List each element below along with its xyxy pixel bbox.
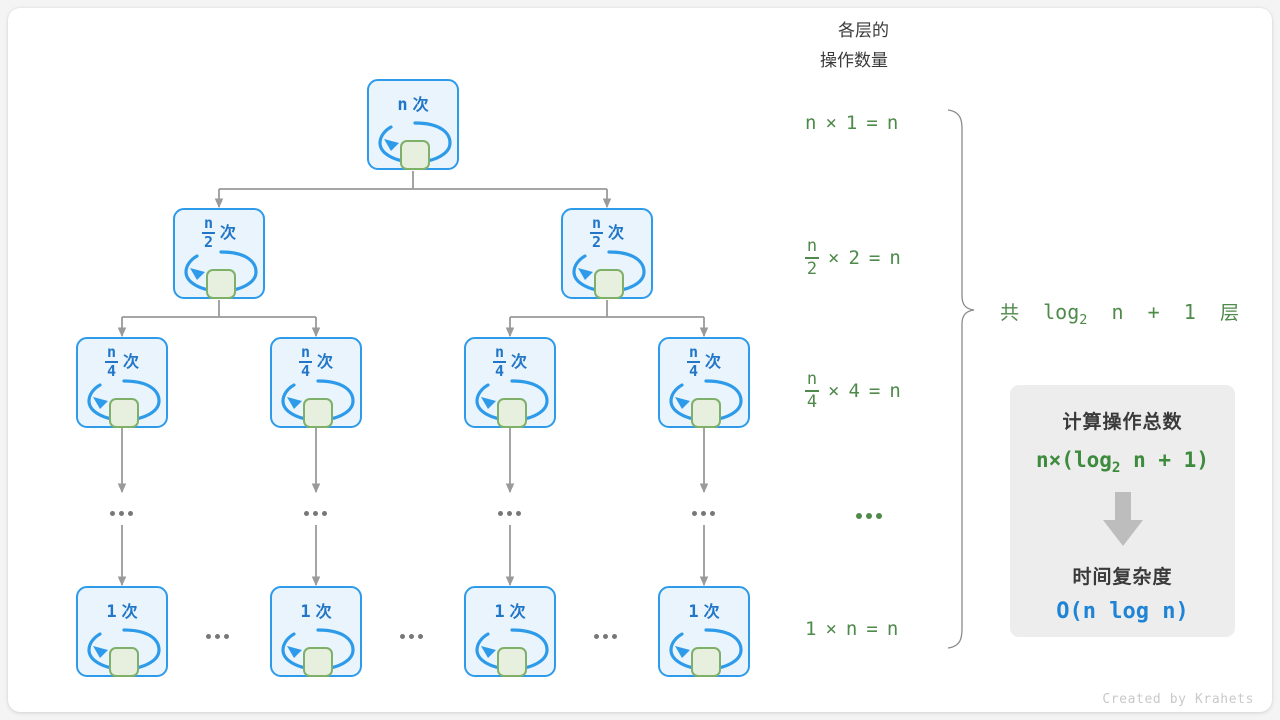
inner-block-level2a [206,269,236,299]
horizontal-ellipsis-3 [594,634,617,639]
node-suffix-lasta: 次 [122,604,138,620]
inner-block-lastc [497,647,527,677]
diagram-canvas: n 次 n 2 次 n 2 [0,0,1280,720]
summary-formula: n×(log2 n + 1) [1036,448,1209,476]
node-count-lastd: 1 [688,604,698,621]
ops-equation-level3: n 4 × 4 = n [805,371,901,411]
tree-node-level3-c[interactable]: n 4 次 [464,337,556,428]
summary-title: 计算操作总数 [1062,407,1182,434]
node-suffix-level1: 次 [413,97,429,113]
fraction-level2b: n 2 [590,216,603,250]
total-levels-log: log [1043,300,1079,324]
eq2-equals: = [869,247,880,269]
tree-node-last-a[interactable]: 1 次 [76,586,168,677]
ops-per-level-title-line1: 各层的 [838,16,889,46]
eq5-equals: = [866,618,877,640]
eq3-equals: = [869,380,880,402]
node-suffix-lastb: 次 [316,604,332,620]
tree-node-level3-b[interactable]: n 4 次 [270,337,362,428]
eq1-factor: 1 [846,112,857,134]
summary-formula-log: log [1074,448,1112,472]
tree-node-level2-b[interactable]: n 2 次 [561,208,653,299]
node-count-lastc: 1 [494,604,504,621]
inner-block-lastd [691,647,721,677]
tree-node-level1[interactable]: n 次 [367,79,459,170]
node-suffix-lastc: 次 [510,604,526,620]
vertical-ellipsis-a [110,511,133,516]
node-suffix-level3d: 次 [705,354,721,370]
fraction-level3a: n 4 [105,345,118,379]
node-count-level1: n [397,97,407,114]
node-suffix-lastd: 次 [704,604,720,620]
eq5-times: × [825,618,836,640]
fraction-level2a: n 2 [202,216,215,250]
eq1-times: × [825,112,836,134]
eq3-result: n [889,380,900,402]
eq1-result: n [887,112,898,134]
horizontal-ellipsis-1 [206,634,229,639]
summary-formula-coef: n×( [1036,448,1074,472]
inner-block-lastb [303,647,333,677]
inner-block-level3a [109,398,139,428]
ops-equation-last: 1 × n = n [805,618,898,640]
inner-block-level3d [691,398,721,428]
node-count-lastb: 1 [300,604,310,621]
eq1-equals: = [866,112,877,134]
fraction-level3c: n 4 [493,345,506,379]
tree-node-level3-a[interactable]: n 4 次 [76,337,168,428]
inner-block-lasta [109,647,139,677]
ops-equation-level2: n 2 × 2 = n [805,238,901,278]
eq3-factor: 4 [848,380,859,402]
horizontal-ellipsis-2 [400,634,423,639]
summary-title-2: 时间复杂度 [1072,562,1172,589]
eq2-factor: 2 [848,247,859,269]
total-levels-base: 2 [1079,312,1087,328]
node-label-level1: n 次 [369,90,457,120]
node-count-lasta: 1 [106,604,116,621]
tree-node-last-c[interactable]: 1 次 [464,586,556,677]
inner-block-level3c [497,398,527,428]
node-suffix-level3a: 次 [123,354,139,370]
credit-label: Created by Krahets [1102,692,1254,707]
eq2-result: n [889,247,900,269]
eq1-left: n [805,112,816,134]
eq5-left: 1 [805,618,816,640]
node-label-lastc: 1 次 [466,597,554,627]
ops-equation-level1: n × 1 = n [805,112,898,134]
inner-block-level1 [400,140,430,170]
total-levels-one: 1 [1184,300,1196,324]
fraction-level3b: n 4 [299,345,312,379]
total-levels-suffix: 层 [1220,302,1239,324]
inner-block-level2b [594,269,624,299]
tree-node-last-b[interactable]: 1 次 [270,586,362,677]
node-suffix-level2b: 次 [608,225,624,241]
eq5-factor: n [846,618,857,640]
eq2-fraction: n 2 [805,238,819,278]
tree-node-last-d[interactable]: 1 次 [658,586,750,677]
summary-formula-arg: n + 1) [1120,448,1209,472]
eq3-fraction: n 4 [805,371,819,411]
fraction-level3d: n 4 [687,345,700,379]
node-label-lasta: 1 次 [78,597,166,627]
inner-block-level3b [303,398,333,428]
ops-equation-ellipsis [856,513,882,519]
node-suffix-level2a: 次 [220,225,236,241]
vertical-ellipsis-b [304,511,327,516]
total-levels-label: 共 log2 n + 1 层 [1000,298,1239,328]
vertical-ellipsis-c [498,511,521,516]
ops-per-level-title-line2: 操作数量 [820,46,888,76]
node-label-lastd: 1 次 [660,597,748,627]
down-arrow-icon [1100,492,1146,548]
summary-complexity: O(n log n) [1056,599,1188,624]
node-label-lastb: 1 次 [272,597,360,627]
eq5-result: n [887,618,898,640]
tree-node-level3-d[interactable]: n 4 次 [658,337,750,428]
vertical-ellipsis-d [692,511,715,516]
total-levels-prefix: 共 [1000,302,1019,324]
node-suffix-level3c: 次 [511,354,527,370]
total-levels-plus: + [1148,300,1160,324]
tree-node-level2-a[interactable]: n 2 次 [173,208,265,299]
eq3-times: × [828,380,839,402]
node-suffix-level3b: 次 [317,354,333,370]
summary-panel: 计算操作总数 n×(log2 n + 1) 时间复杂度 O(n log n) [1010,385,1235,637]
eq2-times: × [828,247,839,269]
total-levels-arg: n [1112,300,1124,324]
